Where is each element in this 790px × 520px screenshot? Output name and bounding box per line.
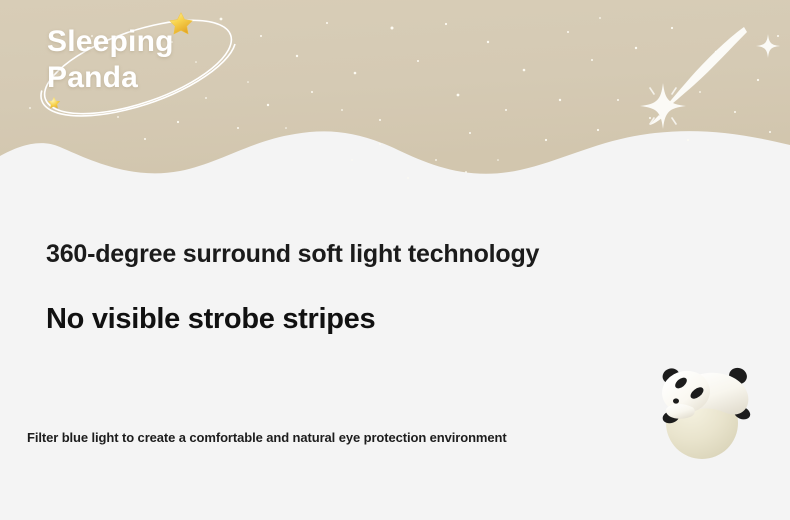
panda-nose-icon: [673, 398, 679, 403]
five-point-star-small: [47, 96, 61, 110]
promo-banner: Sleeping Panda 360-degree surround sof: [0, 0, 790, 520]
orbit-ellipse-front-arc-icon: [41, 44, 235, 116]
sleeping-panda-mascot: [638, 341, 760, 463]
five-point-star-large: [168, 11, 194, 37]
five-point-star-icon: [170, 13, 193, 34]
five-point-star-icon: [48, 97, 60, 109]
